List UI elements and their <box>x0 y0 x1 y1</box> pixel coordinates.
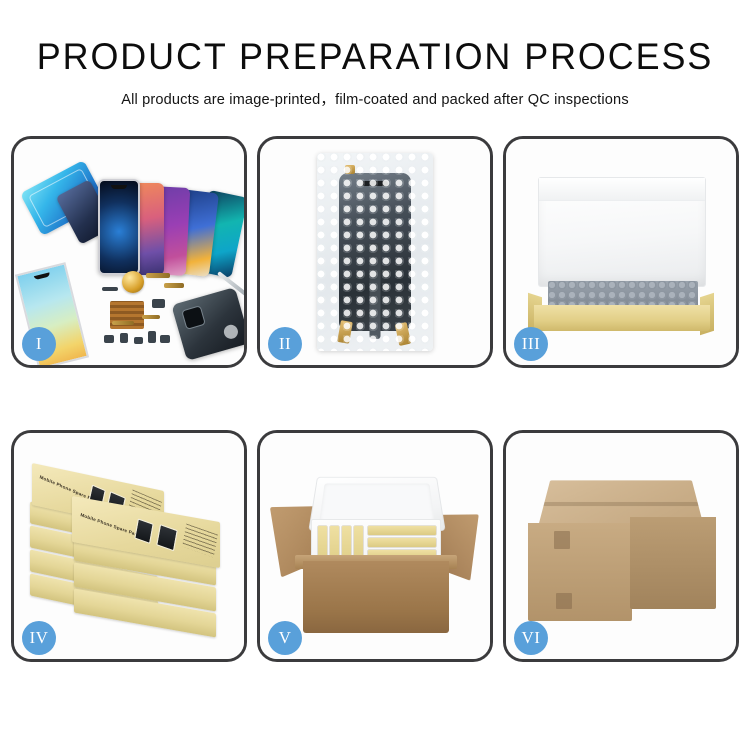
foam-lid-icon <box>538 177 706 287</box>
page-title: PRODUCT PREPARATION PROCESS <box>11 38 739 75</box>
step-badge-3: III <box>514 327 548 361</box>
open-box-assembly <box>526 177 716 337</box>
carton-tape-mark <box>554 531 570 549</box>
carton-tape-mark <box>556 593 572 609</box>
taptic-coil-icon <box>122 271 144 293</box>
header: PRODUCT PREPARATION PROCESS All products… <box>0 0 750 109</box>
product-preparation-infographic: PRODUCT PREPARATION PROCESS All products… <box>0 0 750 750</box>
step-badge-2: II <box>268 327 302 361</box>
part-icon <box>102 287 118 291</box>
flex-cable-icon <box>142 315 160 319</box>
step-badge-6: VI <box>514 621 548 655</box>
yellow-box-item <box>368 526 436 535</box>
process-steps-grid: I II <box>11 136 739 662</box>
step-panel-2[interactable]: II <box>257 136 493 368</box>
step-panel-1[interactable]: I <box>11 136 247 368</box>
step-panel-5[interactable]: V <box>257 430 493 662</box>
phone-chassis-icon <box>171 287 247 361</box>
flex-cable-icon <box>146 273 170 278</box>
step-panel-6[interactable]: VI <box>503 430 739 662</box>
flex-cable-icon <box>112 321 134 325</box>
box-label-phone-icon <box>156 524 178 551</box>
spare-parts-cluster <box>102 269 247 361</box>
flex-cable-icon <box>164 283 184 288</box>
carton-with-foam-assembly <box>275 469 475 641</box>
step-panel-4[interactable]: Mobile Phone Spare Parts Mobile Phone Sp… <box>11 430 247 662</box>
box-front-face <box>534 305 710 331</box>
box-label-text: Mobile Phone Spare Parts <box>80 512 141 538</box>
phone-screen-fan <box>90 157 240 275</box>
part-icon <box>104 335 114 343</box>
step-badge-1: I <box>22 327 56 361</box>
step-panel-3[interactable]: III <box>503 136 739 368</box>
part-icon <box>120 333 128 343</box>
phone-screen-1-icon <box>98 179 140 275</box>
carton-side-face <box>630 517 716 609</box>
carton-body <box>303 561 449 633</box>
carton-front-face <box>528 523 632 621</box>
box-label-phone-icon <box>134 518 153 544</box>
yellow-box-item <box>368 538 436 547</box>
box-stack: Mobile Phone Spare Parts Mobile Phone Sp… <box>30 457 230 643</box>
step-badge-4: IV <box>22 621 56 655</box>
bubble-wrap-bag <box>317 153 433 351</box>
part-icon <box>160 335 170 343</box>
sealed-carton <box>526 473 716 629</box>
step-badge-5: V <box>268 621 302 655</box>
part-icon <box>152 299 165 308</box>
box-label-lines <box>182 524 218 558</box>
bubble-texture-overlay <box>317 153 433 351</box>
part-icon <box>148 331 156 343</box>
page-subtitle: All products are image-printed，film-coat… <box>0 88 750 109</box>
part-icon <box>134 337 143 344</box>
